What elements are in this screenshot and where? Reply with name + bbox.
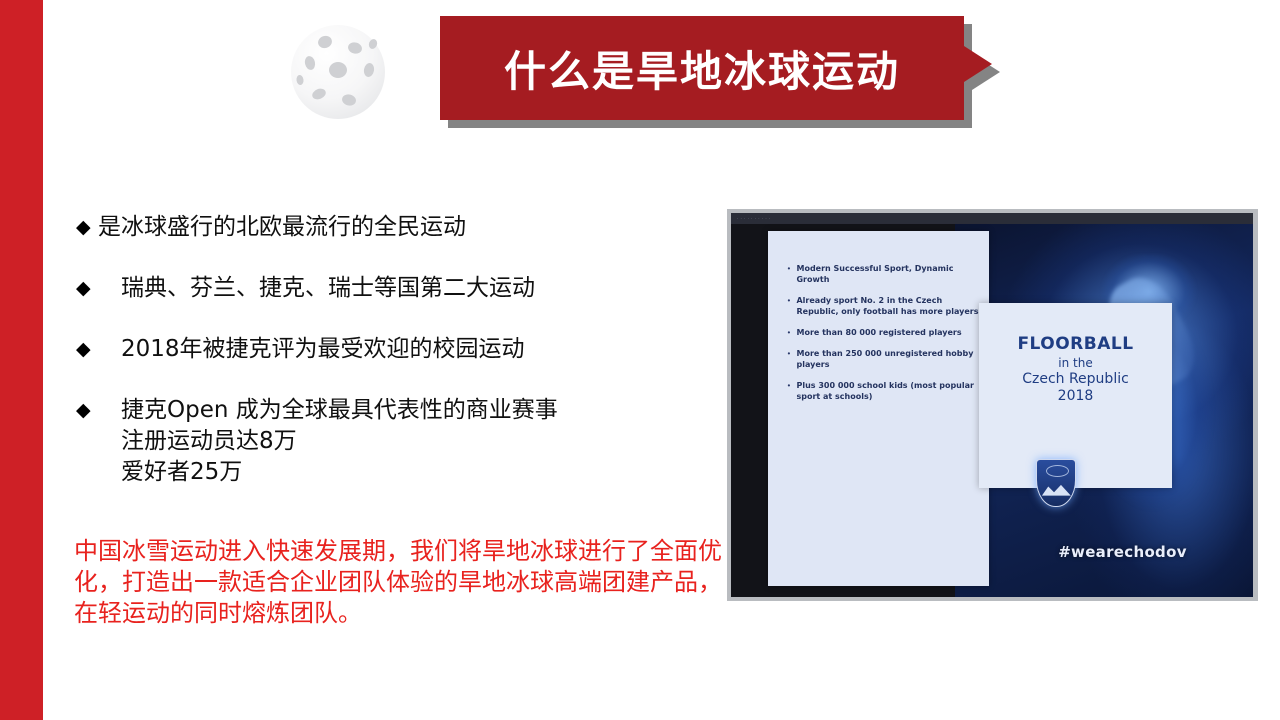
screen-toolbar-strip: . . . . . . . . . . — [731, 213, 1253, 224]
title-banner-body: 什么是旱地冰球运动 — [440, 16, 992, 120]
floorball-title-card: FLOORBALL in the Czech Republic 2018 — [979, 303, 1172, 487]
dot-bullet-icon: • — [787, 263, 796, 274]
list-item: ◆ 瑞典、芬兰、捷克、瑞士等国第二大运动 — [76, 272, 716, 304]
floorball-title-line4: 2018 — [979, 388, 1172, 406]
projected-list-item: • Plus 300 000 school kids (most popular… — [787, 380, 980, 402]
left-accent-bar — [0, 0, 43, 720]
diamond-bullet-icon: ◆ — [76, 211, 98, 243]
projected-list-item: • Modern Successful Sport, Dynamic Growt… — [787, 263, 980, 285]
diamond-bullet-icon: ◆ — [76, 394, 121, 426]
list-item-label: 瑞典、芬兰、捷克、瑞士等国第二大运动 — [121, 272, 716, 304]
banner-tail-icon — [964, 46, 992, 82]
projected-bullet-list: • Modern Successful Sport, Dynamic Growt… — [787, 263, 980, 412]
list-item: ◆ 是冰球盛行的北欧最流行的全民运动 — [76, 211, 716, 243]
floorball-title-line1: FLOORBALL — [979, 336, 1172, 354]
dot-bullet-icon: • — [787, 327, 796, 338]
list-item-label: 2018年被捷克评为最受欢迎的校园运动 — [121, 333, 716, 365]
list-item: ◆ 捷克Open 成为全球最具代表性的商业赛事 — [76, 394, 716, 426]
screen-toolbar-text: . . . . . . . . . . — [737, 215, 771, 220]
projected-list-item: • More than 250 000 unregistered hobby p… — [787, 348, 980, 370]
projected-list-item-label: Plus 300 000 school kids (most popular s… — [796, 380, 980, 402]
page-title: 什么是旱地冰球运动 — [440, 16, 964, 120]
bullet-list: ◆ 是冰球盛行的北欧最流行的全民运动 ◆ 瑞典、芬兰、捷克、瑞士等国第二大运动 … — [76, 211, 716, 488]
presentation-slide: 什么是旱地冰球运动 ◆ 是冰球盛行的北欧最流行的全民运动 ◆ 瑞典、芬兰、捷克、… — [0, 0, 1280, 720]
list-item-label: 捷克Open 成为全球最具代表性的商业赛事 — [121, 394, 716, 426]
projected-list-item-label: More than 80 000 registered players — [796, 327, 980, 338]
projected-list-item-label: More than 250 000 unregistered hobby pla… — [796, 348, 980, 370]
highlight-paragraph: 中国冰雪运动进入快速发展期，我们将旱地冰球进行了全面优化，打造出一款适合企业团队… — [74, 536, 736, 629]
list-item-label: 是冰球盛行的北欧最流行的全民运动 — [98, 211, 716, 243]
dot-bullet-icon: • — [787, 295, 796, 306]
floorball-icon — [283, 18, 393, 126]
floorball-title-line2: in the — [979, 356, 1172, 371]
projected-list-item-label: Modern Successful Sport, Dynamic Growth — [796, 263, 980, 285]
dot-bullet-icon: • — [787, 380, 796, 391]
projected-list-item: • More than 80 000 registered players — [787, 327, 980, 338]
diamond-bullet-icon: ◆ — [76, 333, 121, 365]
list-item-subline: 注册运动员达8万 — [121, 426, 716, 457]
hashtag-label: #wearechodov — [1002, 543, 1242, 561]
projected-list-item-label: Already sport No. 2 in the Czech Republi… — [796, 295, 980, 317]
projected-slide-panel: • Modern Successful Sport, Dynamic Growt… — [768, 231, 990, 586]
floorball-title-line3: Czech Republic — [979, 371, 1172, 388]
diamond-bullet-icon: ◆ — [76, 272, 121, 304]
title-banner: 什么是旱地冰球运动 — [440, 16, 1000, 128]
dot-bullet-icon: • — [787, 348, 796, 359]
list-item-subline: 爱好者25万 — [121, 457, 716, 488]
presentation-photo: . . . . . . . . . . • Modern Successful … — [727, 209, 1258, 601]
list-item: ◆ 2018年被捷克评为最受欢迎的校园运动 — [76, 333, 716, 365]
photo-screen: . . . . . . . . . . • Modern Successful … — [731, 213, 1253, 597]
projected-list-item: • Already sport No. 2 in the Czech Repub… — [787, 295, 980, 317]
club-shield-icon — [1036, 459, 1074, 505]
